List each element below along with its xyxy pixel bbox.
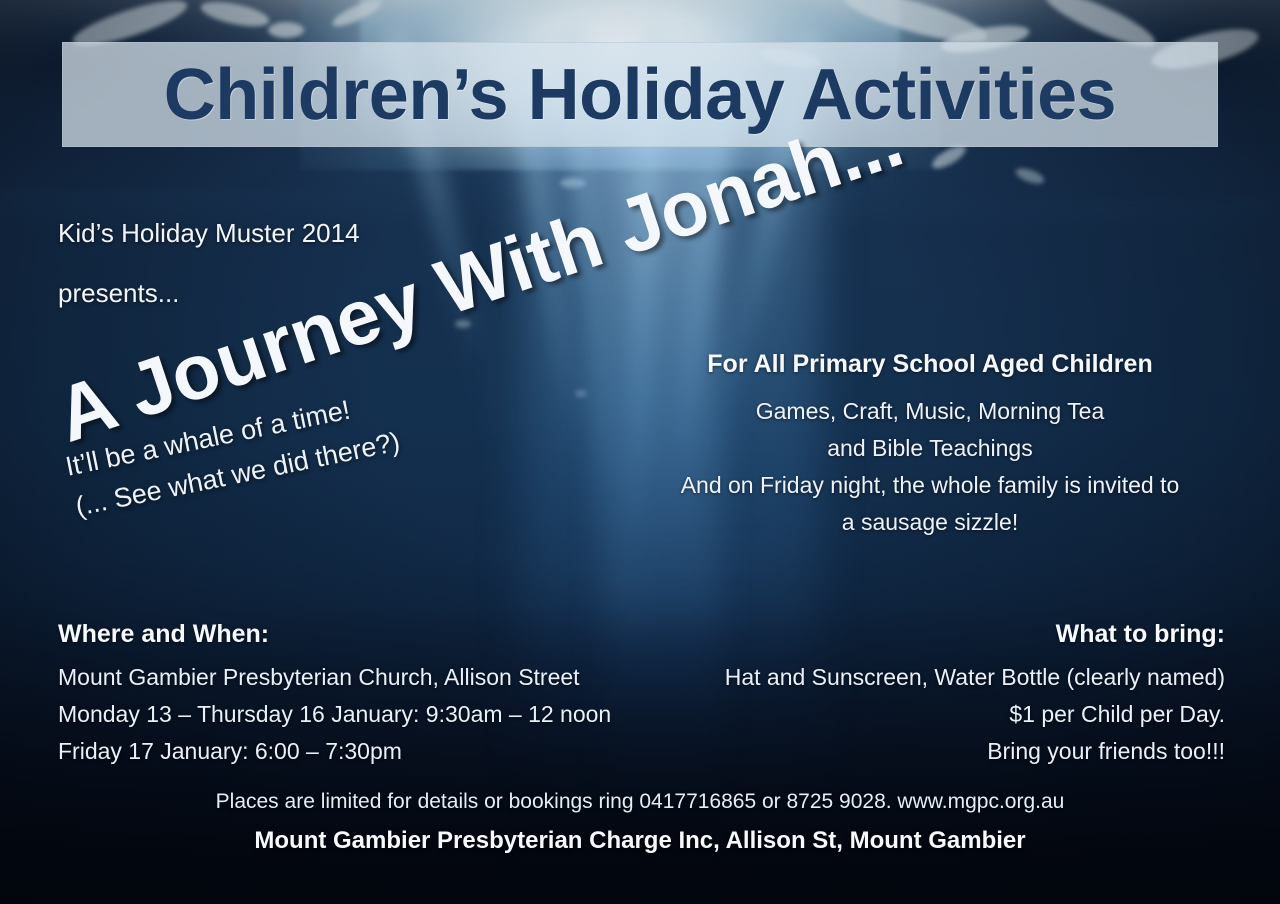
holiday-activities-poster: Children’s Holiday Activities Kid’s Holi… (0, 0, 1280, 904)
activity-line: And on Friday night, the whole family is… (620, 467, 1240, 504)
where-and-when-line: Monday 13 – Thursday 16 January: 9:30am … (58, 696, 678, 733)
what-to-bring-heading: What to bring: (605, 620, 1225, 649)
where-and-when-line: Mount Gambier Presbyterian Church, Allis… (58, 659, 678, 696)
audience-heading: For All Primary School Aged Children (620, 350, 1240, 379)
what-to-bring-line: Bring your friends too!!! (605, 733, 1225, 770)
where-and-when-heading: Where and When: (58, 620, 678, 649)
where-and-when-line: Friday 17 January: 6:00 – 7:30pm (58, 733, 678, 770)
what-to-bring-line: $1 per Child per Day. (605, 696, 1225, 733)
what-to-bring-line: Hat and Sunscreen, Water Bottle (clearly… (605, 659, 1225, 696)
activity-line: a sausage sizzle! (620, 504, 1240, 541)
activity-line: and Bible Teachings (620, 430, 1240, 467)
activities-block: For All Primary School Aged Children Gam… (620, 350, 1240, 541)
organisation-footer: Mount Gambier Presbyterian Charge Inc, A… (0, 827, 1280, 855)
presents-line: presents... (58, 278, 179, 309)
activity-line: Games, Craft, Music, Morning Tea (620, 393, 1240, 430)
what-to-bring-block: What to bring: Hat and Sunscreen, Water … (605, 620, 1225, 770)
booking-info: Places are limited for details or bookin… (0, 790, 1280, 814)
where-and-when-block: Where and When: Mount Gambier Presbyteri… (58, 620, 678, 770)
organiser-line: Kid’s Holiday Muster 2014 (58, 218, 360, 249)
page-title: Children’s Holiday Activities (62, 42, 1218, 147)
